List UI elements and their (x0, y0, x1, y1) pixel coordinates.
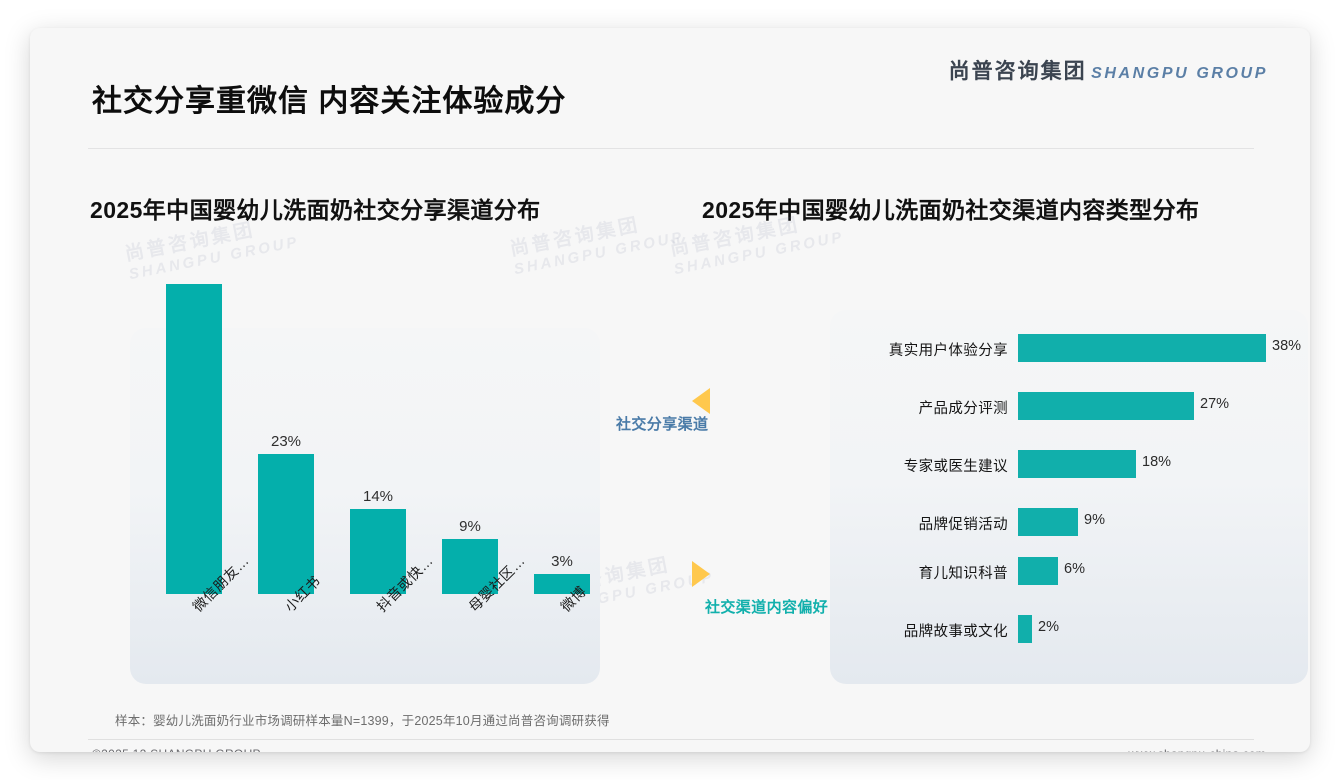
footer-copyright: ©2025.12 SHANGPU GROUP (92, 747, 261, 752)
sample-footnote: 样本：婴幼儿洗面奶行业市场调研样本量N=1399，于2025年10月通过尚普咨询… (115, 710, 610, 729)
bar-category-label: 品牌促销活动 (830, 513, 1008, 534)
slide-canvas: 社交分享重微信 内容关注体验成分 尚普咨询集团 SHANGPU GROUP 20… (30, 28, 1310, 752)
footer-website[interactable]: www.shangpu-china.com (1128, 747, 1266, 752)
logo-text-en: SHANGPU GROUP (1091, 65, 1268, 82)
bar-value-label: 2% (1038, 619, 1059, 635)
bar-value-label: 38% (1272, 338, 1301, 354)
brand-logo: 尚普咨询集团 SHANGPU GROUP (949, 61, 1268, 82)
column-bar[interactable] (166, 284, 222, 594)
column-bar[interactable] (258, 454, 314, 594)
footer-divider (88, 739, 1254, 740)
triangle-right-icon (692, 561, 710, 587)
bar-row[interactable]: 专家或医生建议 18% (830, 447, 1308, 481)
header-divider (88, 148, 1254, 149)
column-value-label: 9% (428, 518, 512, 535)
bar-category-label: 育儿知识科普 (830, 562, 1008, 583)
bar-value-label: 6% (1064, 561, 1085, 577)
annotation-label: 社交分享渠道 (616, 413, 708, 434)
bar-value-label: 9% (1084, 512, 1105, 528)
column-value-label: 14% (336, 488, 420, 505)
annotation-label: 社交渠道内容偏好 (705, 596, 828, 617)
bar-fill[interactable] (1018, 334, 1266, 362)
bar-fill[interactable] (1018, 557, 1058, 585)
column-value-label: 3% (520, 553, 604, 570)
social-share-channel-column-chart: 微信朋友… 23% 小红书 14% 抖音或快… 9% 母婴社区… 3% 微博 (130, 238, 600, 684)
page-title: 社交分享重微信 内容关注体验成分 (92, 76, 566, 120)
content-type-bar-chart: 真实用户体验分享 38% 产品成分评测 27% 专家或医生建议 18% 品牌促销… (830, 310, 1308, 684)
logo-text-cn: 尚普咨询集团 (949, 60, 1087, 83)
bar-row[interactable]: 真实用户体验分享 38% (830, 331, 1308, 365)
bar-category-label: 品牌故事或文化 (830, 620, 1008, 641)
column-value-label: 23% (244, 433, 328, 450)
bar-fill[interactable] (1018, 392, 1194, 420)
bar-row[interactable]: 品牌促销活动 9% (830, 505, 1308, 539)
slide-header: 社交分享重微信 内容关注体验成分 尚普咨询集团 SHANGPU GROUP (30, 28, 1310, 120)
bar-category-label: 专家或医生建议 (830, 455, 1008, 476)
triangle-left-icon (692, 388, 710, 414)
bar-category-label: 产品成分评测 (830, 397, 1008, 418)
bar-fill[interactable] (1018, 450, 1136, 478)
bar-row[interactable]: 产品成分评测 27% (830, 389, 1308, 423)
left-chart-title: 2025年中国婴幼儿洗面奶社交分享渠道分布 (90, 191, 541, 225)
bar-value-label: 18% (1142, 454, 1171, 470)
bar-row[interactable]: 品牌故事或文化 2% (830, 612, 1308, 646)
bar-fill[interactable] (1018, 615, 1032, 643)
bar-category-label: 真实用户体验分享 (830, 339, 1008, 360)
bar-fill[interactable] (1018, 508, 1078, 536)
bar-row[interactable]: 育儿知识科普 6% (830, 554, 1308, 588)
bar-value-label: 27% (1200, 396, 1229, 412)
right-chart-title: 2025年中国婴幼儿洗面奶社交渠道内容类型分布 (702, 191, 1199, 225)
